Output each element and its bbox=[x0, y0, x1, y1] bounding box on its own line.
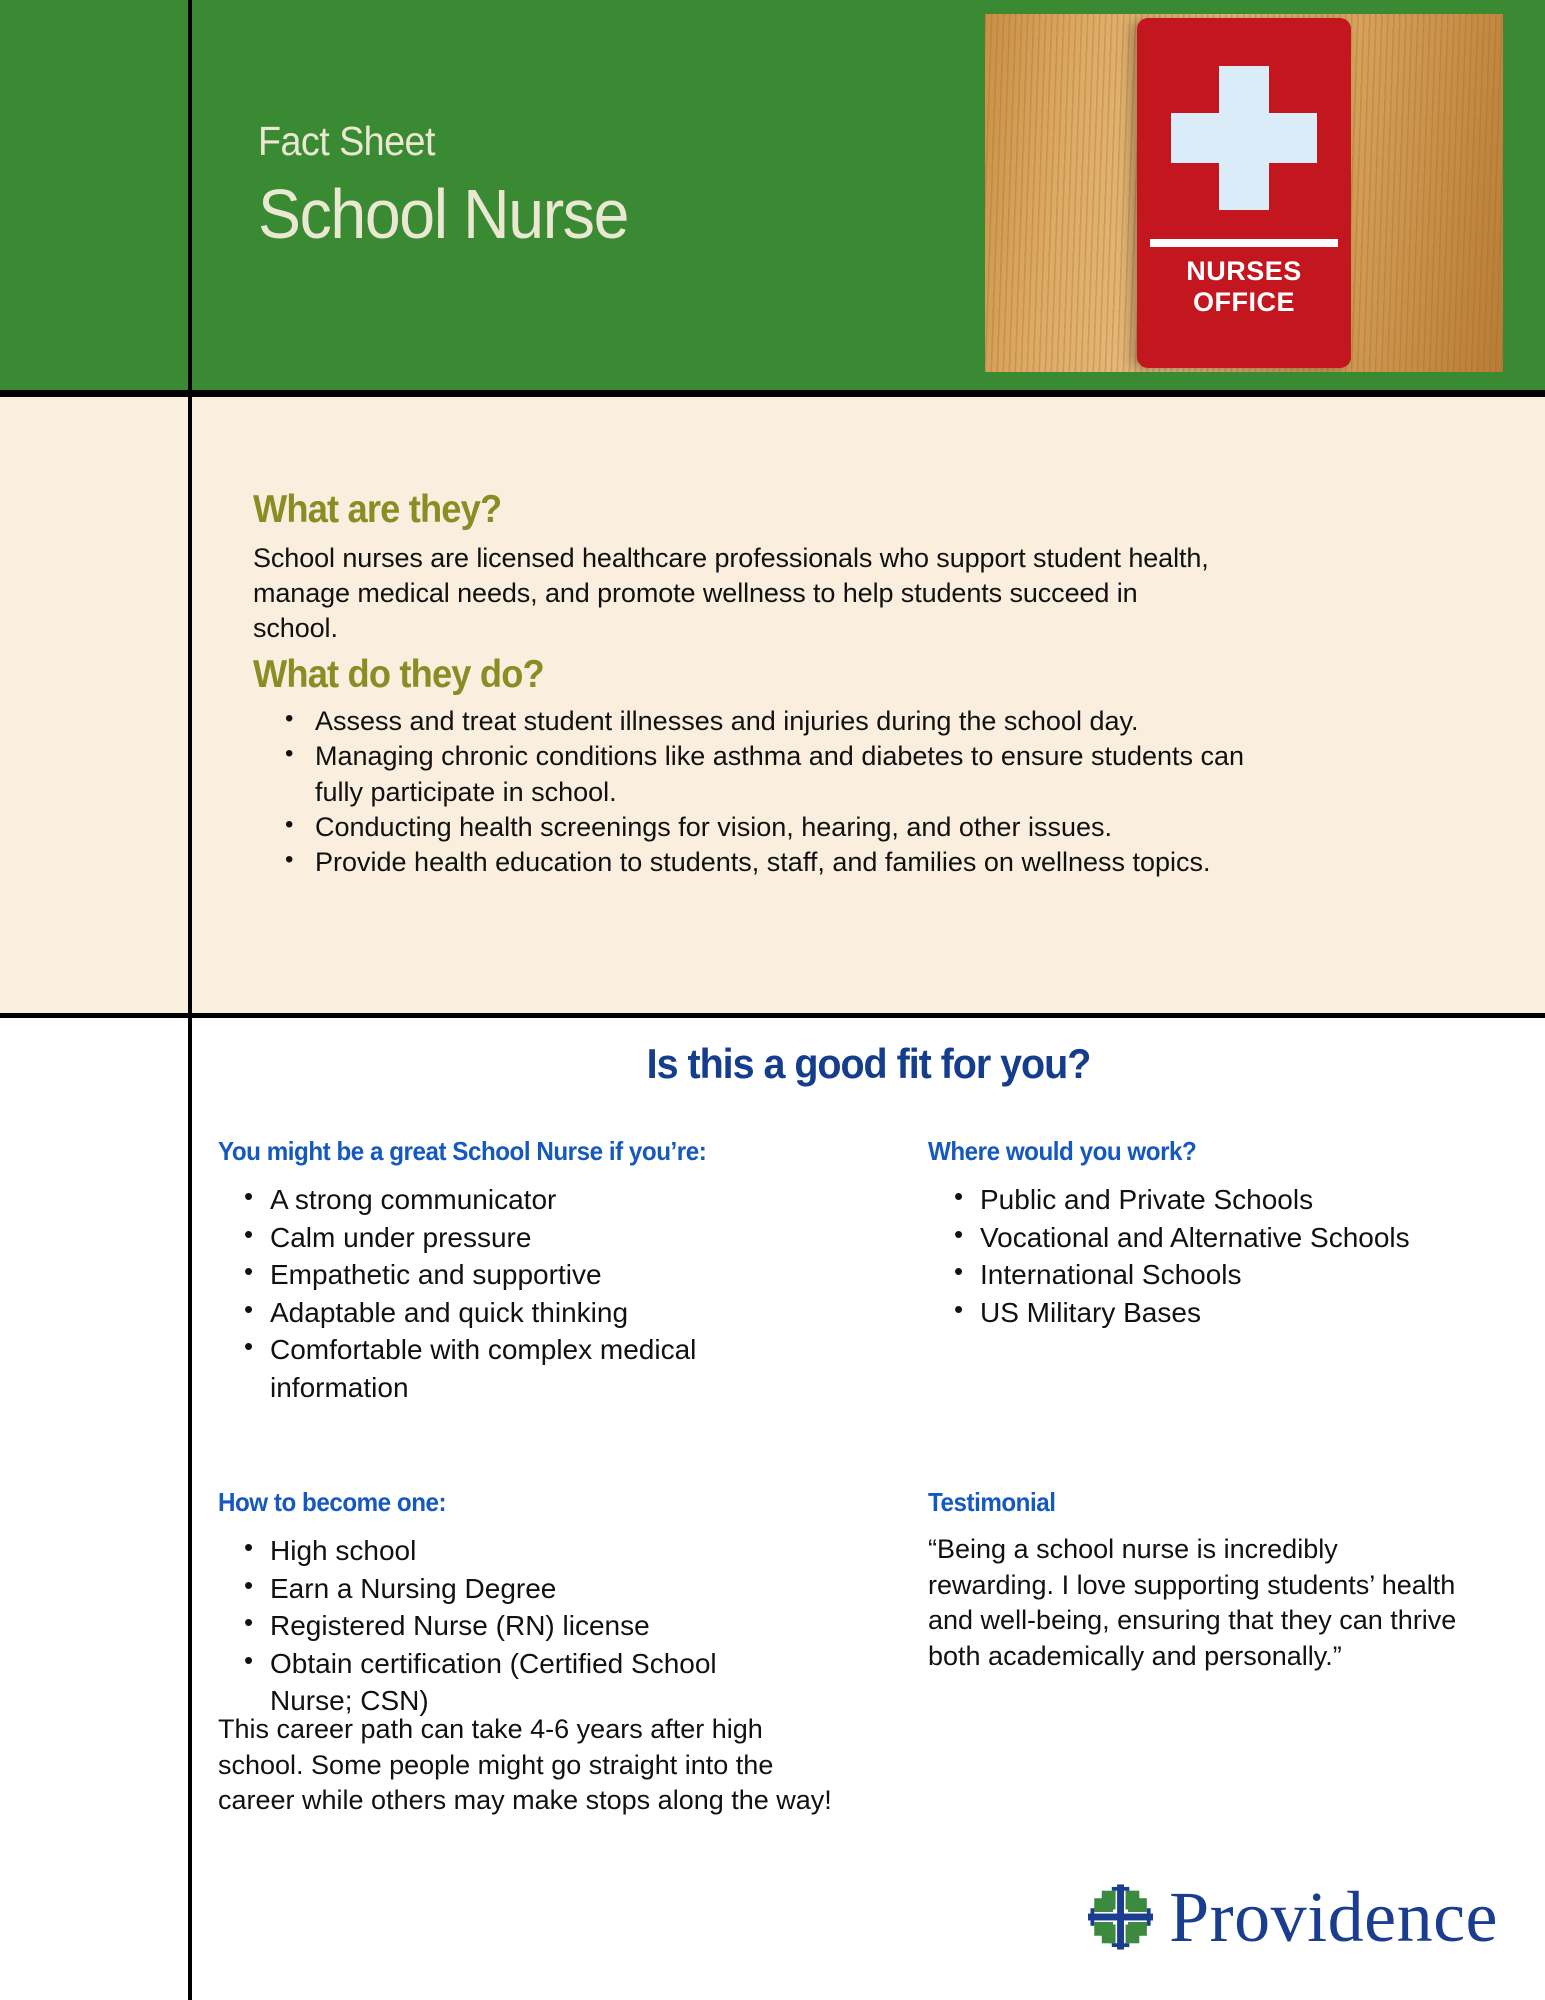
header-text-group: Fact Sheet School Nurse bbox=[258, 120, 660, 253]
list-item: Conducting health screenings for vision,… bbox=[315, 810, 1245, 845]
list-item: Calm under pressure bbox=[270, 1219, 788, 1257]
heading-what-do-they-do: What do they do? bbox=[253, 652, 1183, 698]
providence-logo: Providence bbox=[1088, 1862, 1498, 1972]
list-item: Adaptable and quick thinking bbox=[270, 1294, 788, 1332]
page-title: School Nurse bbox=[258, 177, 628, 253]
how-to-become-heading: How to become one: bbox=[218, 1487, 748, 1518]
nurses-office-sign: NURSES OFFICE bbox=[1137, 18, 1351, 368]
traits-heading: You might be a great School Nurse if you… bbox=[218, 1136, 748, 1167]
list-item: Registered Nurse (RN) license bbox=[270, 1607, 788, 1645]
list-item: Earn a Nursing Degree bbox=[270, 1570, 788, 1608]
fit-section-title: Is this a good fit for you? bbox=[233, 1040, 1505, 1088]
workplaces-heading: Where would you work? bbox=[928, 1136, 1467, 1167]
workplaces-list: Public and Private Schools Vocational an… bbox=[928, 1181, 1508, 1331]
sign-text-line1: NURSES bbox=[1137, 256, 1351, 287]
closing-note: This career path can take 4-6 years afte… bbox=[218, 1712, 838, 1819]
sign-text-line2: OFFICE bbox=[1137, 287, 1351, 318]
list-item: Empathetic and supportive bbox=[270, 1256, 788, 1294]
list-item: Managing chronic conditions like asthma … bbox=[315, 739, 1245, 809]
how-to-become-list: High school Earn a Nursing Degree Regist… bbox=[218, 1532, 788, 1720]
list-item: Public and Private Schools bbox=[980, 1181, 1508, 1219]
list-item: Assess and treat student illnesses and i… bbox=[315, 704, 1245, 739]
list-item: US Military Bases bbox=[980, 1294, 1508, 1332]
list-item: Provide health education to students, st… bbox=[315, 845, 1245, 880]
duties-list: Assess and treat student illnesses and i… bbox=[253, 704, 1253, 879]
list-item: Vocational and Alternative Schools bbox=[980, 1219, 1508, 1257]
workplaces-column: Where would you work? Public and Private… bbox=[928, 1136, 1508, 1331]
overview-bottom-rule bbox=[0, 1013, 1545, 1018]
heading-what-are-they: What are they? bbox=[253, 487, 1183, 533]
overview-paragraph: School nurses are licensed healthcare pr… bbox=[253, 541, 1228, 646]
nurses-office-photo: NURSES OFFICE bbox=[985, 14, 1503, 372]
eyebrow-label: Fact Sheet bbox=[258, 120, 628, 163]
overview-content: What are they? School nurses are license… bbox=[253, 487, 1253, 880]
left-margin-rule bbox=[188, 0, 192, 2000]
list-item: Obtain certification (Certified School N… bbox=[270, 1645, 788, 1720]
providence-wordmark: Providence bbox=[1169, 1881, 1498, 1953]
how-to-become-column: How to become one: High school Earn a Nu… bbox=[218, 1487, 788, 1720]
list-item: Comfortable with complex medical informa… bbox=[270, 1331, 788, 1406]
fact-sheet-page: Fact Sheet School Nurse NURSES OFFICE Wh… bbox=[0, 0, 1545, 2000]
list-item: A strong communicator bbox=[270, 1181, 788, 1219]
header-bottom-rule bbox=[0, 390, 1545, 397]
list-item: High school bbox=[270, 1532, 788, 1570]
testimonial-quote: “Being a school nurse is incredibly rewa… bbox=[928, 1532, 1468, 1675]
providence-cross-icon bbox=[1088, 1865, 1153, 1969]
list-item: International Schools bbox=[980, 1256, 1508, 1294]
testimonial-column: Testimonial “Being a school nurse is inc… bbox=[928, 1487, 1508, 1675]
traits-column: You might be a great School Nurse if you… bbox=[218, 1136, 788, 1406]
sign-divider bbox=[1150, 239, 1338, 247]
testimonial-heading: Testimonial bbox=[928, 1487, 1467, 1518]
sign-text: NURSES OFFICE bbox=[1137, 256, 1351, 318]
traits-list: A strong communicator Calm under pressur… bbox=[218, 1181, 788, 1406]
medical-cross-icon-bar bbox=[1171, 113, 1317, 163]
